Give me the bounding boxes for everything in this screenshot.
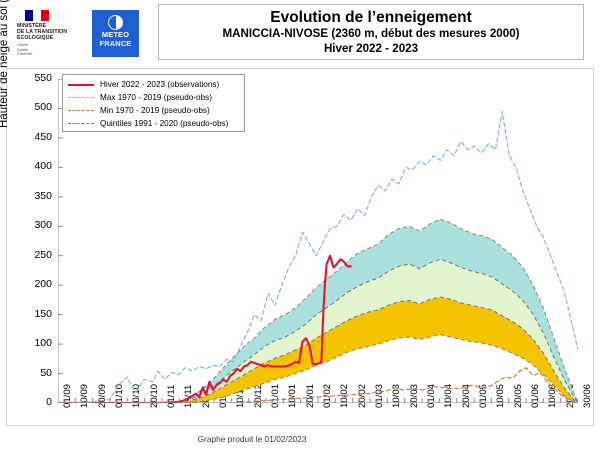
legend-label: Quintiles 1991 - 2020 (pseudo-obs) xyxy=(100,119,228,129)
legend-item: Hiver 2022 - 2023 (observations) xyxy=(68,78,239,91)
legend-item: Min 1970 - 2019 (pseudo-obs) xyxy=(68,104,239,117)
y-tick-label: 300 xyxy=(18,219,52,231)
snow-depth-chart-page: MINISTÈRE DE LA TRANSITION ÉCOLOGIQUE Li… xyxy=(0,0,600,454)
legend-swatch-icon xyxy=(68,80,94,90)
x-tick-label: 30/06 xyxy=(582,384,593,408)
y-tick-label: 50 xyxy=(18,367,52,379)
ministry-line-3: ÉCOLOGIQUE xyxy=(17,35,89,41)
y-tick-label: 550 xyxy=(18,72,52,84)
french-flag-icon xyxy=(25,10,49,21)
chart-subtitle-season: Hiver 2022 - 2023 xyxy=(324,41,418,56)
y-tick-label: 0 xyxy=(18,396,52,408)
legend-label: Min 1970 - 2019 (pseudo-obs) xyxy=(100,106,210,116)
chart-legend: Hiver 2022 - 2023 (observations)Max 1970… xyxy=(62,74,245,132)
y-tick-label: 100 xyxy=(18,337,52,349)
y-tick-label: 500 xyxy=(18,101,52,113)
min-line xyxy=(58,368,578,403)
meteo-france-mark-icon xyxy=(108,15,123,30)
legend-item: Max 1970 - 2019 (pseudo-obs) xyxy=(68,91,239,104)
legend-swatch-icon xyxy=(68,106,94,116)
meteo-france-label-2: FRANCE xyxy=(93,40,138,49)
y-tick-label: 400 xyxy=(18,160,52,172)
chart-subtitle-station: MANICCIA-NIVOSE (2360 m, début des mesur… xyxy=(222,26,519,41)
chart-title-box: Evolution de l’enneigement MANICCIA-NIVO… xyxy=(158,4,584,60)
meteo-france-logo: METEO FRANCE xyxy=(92,10,139,57)
y-tick-label: 250 xyxy=(18,249,52,261)
y-axis-title: Hauteur de neige au sol (cm) xyxy=(0,0,10,128)
y-tick-label: 200 xyxy=(18,278,52,290)
ministere-logo: MINISTÈRE DE LA TRANSITION ÉCOLOGIQUE Li… xyxy=(17,10,89,56)
legend-label: Max 1970 - 2019 (pseudo-obs) xyxy=(100,93,212,103)
y-tick-label: 150 xyxy=(18,308,52,320)
legend-item: Quintiles 1991 - 2020 (pseudo-obs) xyxy=(68,117,239,130)
legend-label: Hiver 2022 - 2023 (observations) xyxy=(100,80,219,90)
y-tick-label: 350 xyxy=(18,190,52,202)
y-tick-label: 450 xyxy=(18,131,52,143)
page-header: MINISTÈRE DE LA TRANSITION ÉCOLOGIQUE Li… xyxy=(0,0,600,64)
footer-text: Graphe produit le 01/02/2023 xyxy=(198,434,307,444)
chart-title: Evolution de l’enneigement xyxy=(270,9,472,26)
legend-swatch-icon xyxy=(68,93,94,103)
devise-line-3: Fraternité xyxy=(17,52,89,56)
footer-note: Graphe produit le 01/02/2023 xyxy=(0,434,600,444)
legend-swatch-icon xyxy=(68,119,94,129)
